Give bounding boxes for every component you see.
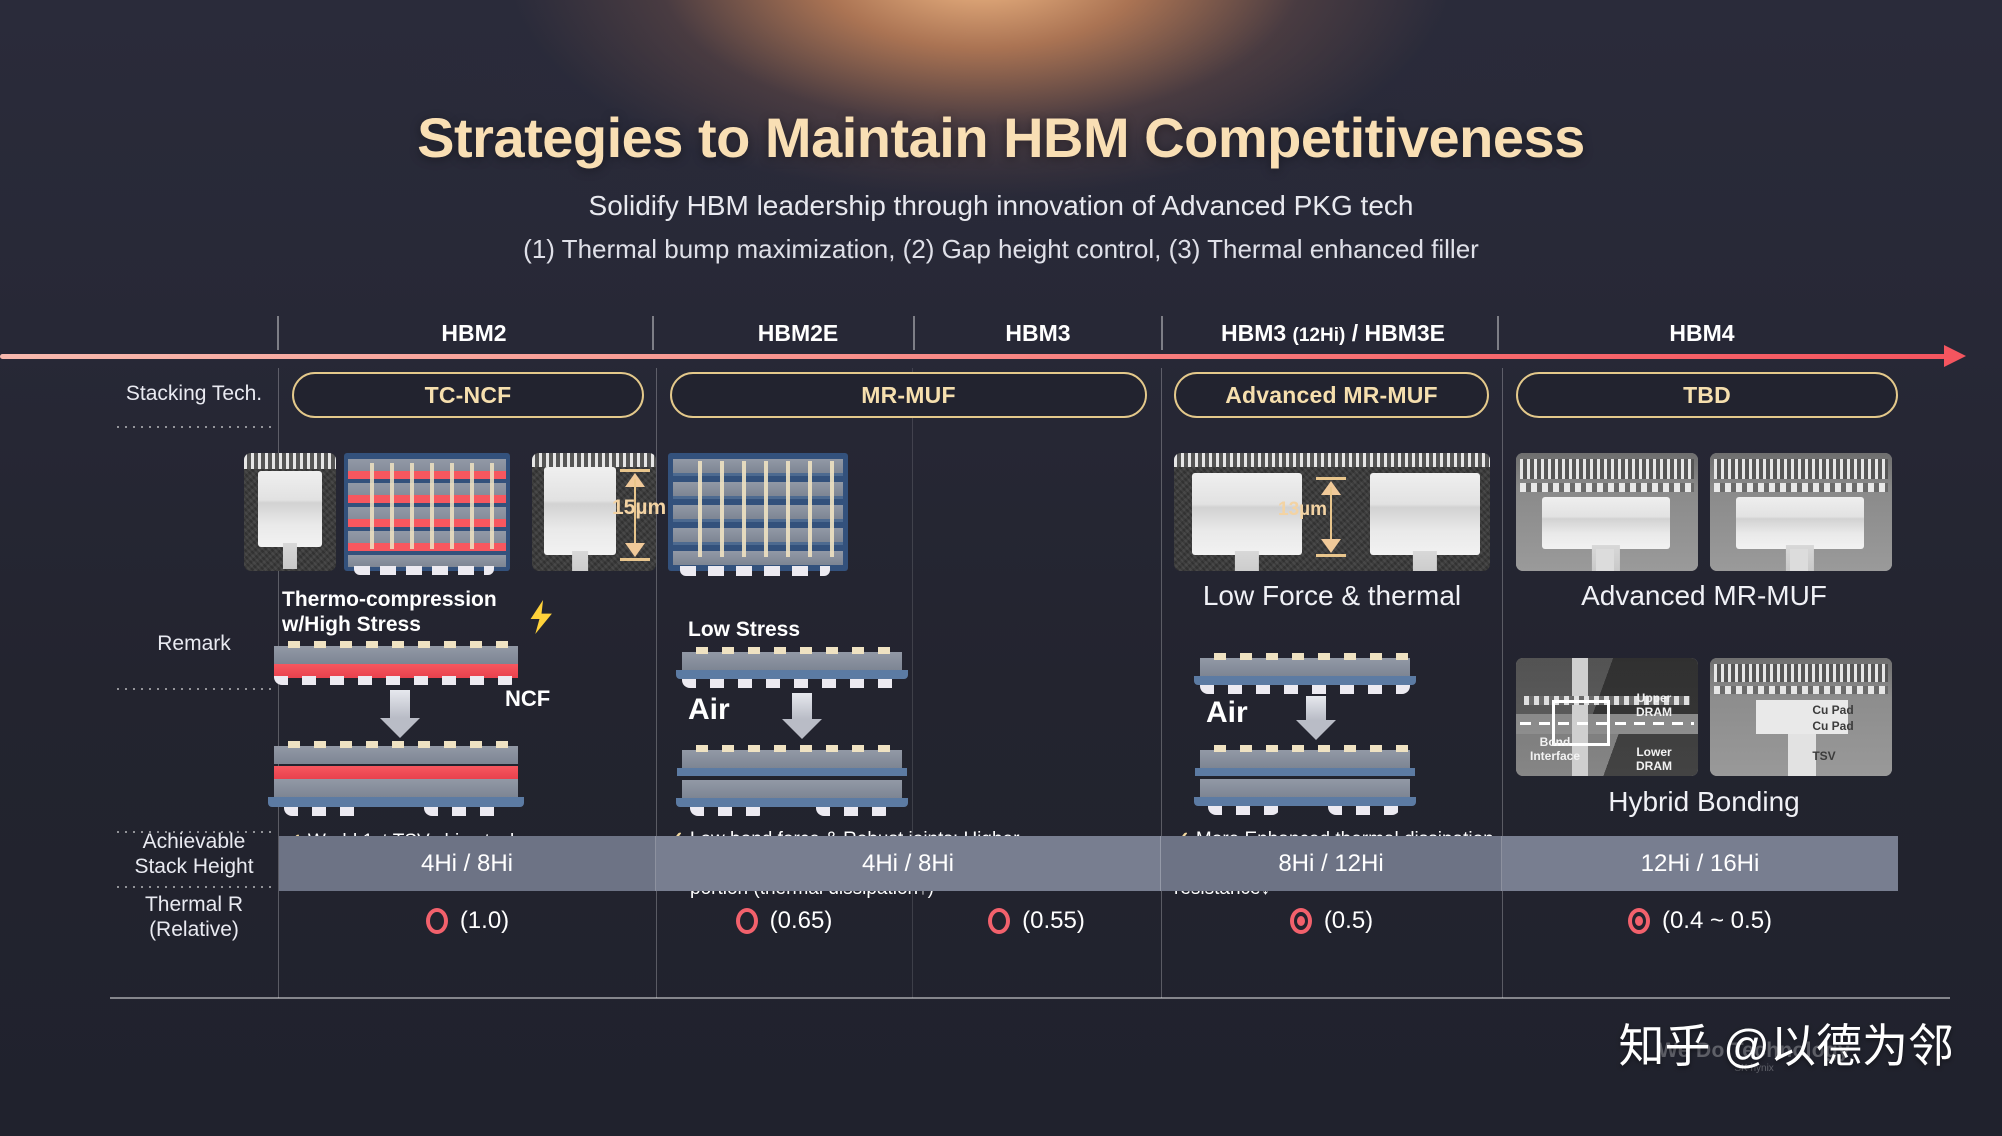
timeline-tick [1161,316,1163,350]
micrograph-hbm4-mrmuf-right [1710,453,1892,571]
anno-cu-pad-2: Cu Pad [1798,720,1868,734]
gap-height-label-15um: 15µm [612,496,666,520]
process-arrow-down-icon [1296,696,1336,740]
anno-tsv: TSV [1794,750,1854,764]
thermal-r-cell-hbm3-12hi: (0.5) [1161,891,1502,951]
anno-upper-dram-l1: Upper [1637,691,1672,705]
micrograph-hbm4-mrmuf-left [1516,453,1698,571]
process-diagram-tcncf-before [274,646,518,684]
process-diagram-mrmuf-after [682,750,902,816]
row-divider-dots [114,426,274,428]
thermal-marker-double-icon [1628,908,1650,934]
process-diagram-advmrmuf-before [1200,658,1410,688]
timeline-tick [913,316,915,350]
timeline-label-hbm3e-tail: / HBM3E [1345,320,1445,346]
micrograph-hybrid-bonding-right: Cu Pad Cu Pad TSV [1710,658,1892,776]
anno-lower-dram-l1: Lower [1636,745,1671,759]
stack-height-line2: Stack Height [134,855,253,878]
anno-bond-l2: Interface [1530,749,1580,763]
thermal-r-value: (0.55) [1022,907,1085,935]
thermal-marker-single-icon [736,908,758,934]
thermal-r-cell-hbm2: (1.0) [279,891,656,951]
timeline-label-hbm2e: HBM2E [758,320,839,347]
watermark: 知乎 @以德为邻 [1619,1010,1954,1076]
thermal-r-value: (0.65) [770,907,833,935]
schematic-microbumps [680,566,830,576]
row-divider-dots [114,886,274,888]
air-label-col2: Air [688,693,730,727]
remark4-caption-bottom: Hybrid Bonding [1516,786,1892,818]
remark1-heading-line1: Thermo-compression [282,588,497,611]
micrograph-bump-shape-right [1370,473,1480,555]
thermal-r-cell-hbm3: (0.55) [912,891,1161,951]
stack-height-line1: Achievable [143,830,246,853]
anno-lower-dram-l2: DRAM [1636,759,1672,773]
timeline-label-hbm2: HBM2 [441,320,506,347]
comparison-table: Stacking Tech. Remark Achievable Stack H… [110,368,1950,1018]
row-label-stacking-tech: Stacking Tech. [110,382,278,407]
remark4-caption-top: Advanced MR-MUF [1516,580,1892,612]
subtitle-primary: Solidify HBM leadership through innovati… [0,190,2002,222]
thermal-marker-single-icon [988,908,1010,934]
process-arrow-down-icon [782,693,822,739]
micrograph-tcncf-bump [244,453,336,571]
row-label-stack-height: Achievable Stack Height [110,830,278,880]
micrograph-advanced-mrmuf: 13µm [1174,453,1490,571]
schematic-tsv-columns [354,463,500,549]
micrograph-fingers [244,453,336,469]
stack-height-cell-hbm2: 4Hi / 8Hi [279,836,656,891]
subtitle-secondary: (1) Thermal bump maximization, (2) Gap h… [0,234,2002,265]
remark1-heading: Thermo-compression w/High Stress [282,588,562,638]
micrograph-fingers [1714,459,1888,479]
schematic-microbumps [354,566,494,575]
thermal-r-value: (0.4 ~ 0.5) [1662,907,1772,935]
remark2-heading: Low Stress [688,618,800,643]
timeline-label-hbm3-12hi: HBM3 (12Hi) / HBM3E [1221,320,1445,347]
schematic-tsv-columns [680,461,836,557]
timeline-label-hbm3-suffix: (12Hi) [1293,325,1346,346]
micrograph-bump-shape [1736,497,1864,549]
timeline-tick [652,316,654,350]
micrograph-fingers [1520,459,1694,479]
remark3-caption: Low Force & thermal [1174,580,1490,612]
timeline-arrow-line [0,354,1946,359]
process-diagram-tcncf-after [274,746,518,816]
stack-height-cell-hbm3-12hi: 8Hi / 12Hi [1161,836,1502,891]
timeline-header: HBM2 HBM2E HBM3 HBM3 (12Hi) / HBM3E HBM4 [0,308,2002,368]
ncf-label: NCF [505,686,550,712]
schematic-tcncf-stack [344,453,510,571]
stack-height-cell-hbm4: 12Hi / 16Hi [1502,836,1898,891]
process-arrow-down-icon [380,690,420,738]
process-diagram-advmrmuf-after [1200,750,1410,814]
timeline-label-hbm4: HBM4 [1669,320,1734,347]
timeline-tick [277,316,279,350]
remark1-heading-line2: w/High Stress [282,613,421,636]
badge-mr-muf[interactable]: MR-MUF [670,372,1147,418]
thermal-r-value: (0.5) [1324,907,1373,935]
slide-root: Strategies to Maintain HBM Competitivene… [0,0,2002,1136]
row-divider-dots [114,688,274,690]
table-bottom-rule [110,997,1950,999]
stack-height-cell-hbm2e-hbm3: 4Hi / 8Hi [656,836,1161,891]
schematic-mrmuf-stack [668,453,848,571]
anno-bond-interface: Bond Interface [1518,736,1592,764]
row-label-thermal-r: Thermal R (Relative) [110,893,278,943]
micrograph-bump-shape [544,467,616,555]
anno-upper-dram-l2: DRAM [1636,705,1672,719]
anno-bond-l1: Bond [1540,735,1571,749]
micrograph-fingers [532,453,656,467]
badge-tc-ncf[interactable]: TC-NCF [292,372,644,418]
timeline-label-hbm3: HBM3 [1005,320,1070,347]
micrograph-hybrid-bonding-left: Upper DRAM Lower DRAM Bond Interface [1516,658,1698,776]
thermal-marker-double-icon [1290,908,1312,934]
timeline-arrow-head-icon [1944,345,1966,367]
anno-lower-dram: Lower DRAM [1620,746,1688,774]
row-label-remark: Remark [110,632,278,657]
thermal-marker-single-icon [426,908,448,934]
thermal-r-line2: (Relative) [149,918,239,941]
page-title: Strategies to Maintain HBM Competitivene… [0,105,2002,170]
badge-advanced-mr-muf[interactable]: Advanced MR-MUF [1174,372,1489,418]
micrograph-bump-shape [1542,497,1670,549]
anno-upper-dram: Upper DRAM [1620,692,1688,720]
micrograph-fingers [1714,664,1888,682]
anno-cu-pad-1: Cu Pad [1798,704,1868,718]
micrograph-fingers [1174,453,1490,467]
air-label-col3: Air [1206,696,1248,730]
thermal-r-value: (1.0) [460,907,509,935]
thermal-r-cell-hbm4: (0.4 ~ 0.5) [1502,891,1898,951]
badge-tbd[interactable]: TBD [1516,372,1898,418]
process-diagram-mrmuf-before [682,652,902,682]
micrograph-bump-shape [258,471,322,547]
thermal-r-cell-hbm2e: (0.65) [656,891,912,951]
gap-height-label-13um: 13µm [1278,499,1327,521]
timeline-tick [1497,316,1499,350]
timeline-label-hbm3-base: HBM3 [1221,320,1293,346]
thermal-r-line1: Thermal R [145,893,243,916]
